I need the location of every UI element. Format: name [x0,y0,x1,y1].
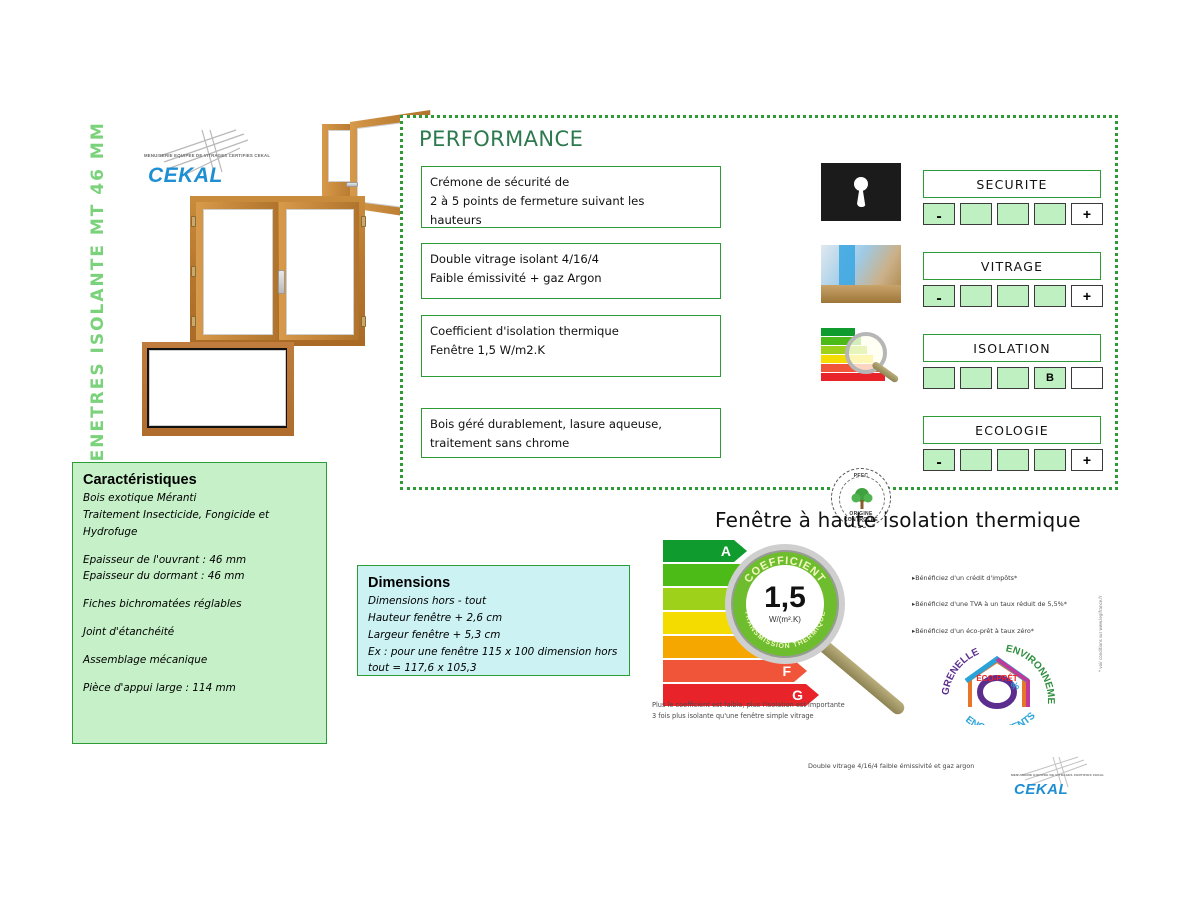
rating-label-vitrage: VITRAGE [923,252,1101,280]
thermal-title: Fenêtre à haute isolation thermique [715,508,1081,532]
rating-cell-minus[interactable]: - [923,449,955,471]
energy-label-note: Plus le coefficient est faible, plus l'i… [652,700,845,722]
benefit-item: ▸Bénéficiez d'un crédit d'impôts* [912,575,1067,581]
energy-label-graphic: A F G COEFFICIENT TRANSMISSI [663,540,903,710]
benefits-list: ▸Bénéficiez d'un crédit d'impôts* ▸Bénéf… [912,575,1067,654]
rating-label-isolation: ISOLATION [923,334,1101,362]
rating-cell[interactable] [960,285,992,307]
caracteristiques-line: Epaisseur du dormant : 46 mm [83,568,316,585]
rating-cell[interactable] [997,203,1029,225]
svg-text:GRENELLE: GRENELLE [940,646,981,695]
coefficient-unit: W/(m².K) [769,615,801,624]
caracteristiques-box: Caractéristiques Bois exotique Méranti T… [72,462,327,744]
rating-cells-ecologie: - + [923,449,1103,471]
rating-cell[interactable] [960,367,992,389]
rating-cell[interactable] [1071,367,1103,389]
benefit-item: ▸Bénéficiez d'une TVA à un taux réduit d… [912,601,1067,607]
rating-cell-plus[interactable]: + [1071,203,1103,225]
spec-box-ecology: Bois géré durablement, lasure aqueuse, t… [421,408,721,458]
datasheet-page: FENETRES ISOLANTE MT 46 MM MENUISERIE EQ… [0,0,1202,901]
keyhole-icon [821,163,901,221]
dimensions-box: Dimensions Dimensions hors - tout Hauteu… [357,565,630,676]
caracteristiques-title: Caractéristiques [83,472,316,488]
rating-cell-minus[interactable]: - [923,203,955,225]
dimensions-line: Largeur fenêtre + 5,3 cm [368,627,619,644]
coefficient-magnifier: COEFFICIENT TRANSMISSION THERMIQUE 1,5 W… [725,544,905,709]
svg-text:%: % [1011,681,1019,691]
caracteristiques-line: Traitement Insecticide, Fongicide et [83,507,316,524]
legal-side-note: * voir conditions sur www.legifrance.fr [1098,596,1103,672]
rating-cell[interactable] [997,285,1029,307]
rating-cell-plus[interactable]: + [1071,449,1103,471]
caracteristiques-line: Assemblage mécanique [83,652,316,669]
product-side-title: FENETRES ISOLANTE MT 46 MM [88,145,118,475]
footer-note: Double vitrage 4/16/4 faible émissivité … [808,762,974,770]
rating-cell-grade[interactable]: B [1034,367,1066,389]
cekal-logo-subtitle: MENUISERIE EQUIPEE DE VITRAGES CERTIFIES… [1011,773,1104,777]
cekal-logo-wordmark: CEKAL [1014,781,1068,798]
rating-cells-vitrage: - + [923,285,1103,307]
rating-row-ecologie: ECOLOGIE - + [923,416,1103,471]
spec-box-insulation: Coefficient d'isolation thermique Fenêtr… [421,315,721,377]
rating-cells-isolation: B [923,367,1103,389]
dimensions-line: Dimensions hors - tout [368,593,619,610]
caracteristiques-line: Epaisseur de l'ouvrant : 46 mm [83,552,316,569]
performance-panel: PERFORMANCE Crémone de sécurité de 2 à 5… [400,115,1118,490]
performance-title: PERFORMANCE [419,127,583,151]
caracteristiques-line: Hydrofuge [83,524,316,541]
coefficient-value: 1,5 [764,583,806,613]
rating-cell[interactable] [960,449,992,471]
caracteristiques-line: Joint d'étanchéité [83,624,316,641]
spec-box-glazing: Double vitrage isolant 4/16/4 Faible émi… [421,243,721,299]
rating-cell[interactable] [923,367,955,389]
dimensions-title: Dimensions [368,575,619,591]
rating-row-securite: SECURITE - + [923,170,1103,225]
rating-cell[interactable] [1034,285,1066,307]
rating-row-isolation: ISOLATION B [923,334,1103,389]
energy-magnifier-icon [821,326,901,384]
dimensions-line: Ex : pour une fenêtre 115 x 100 dimensio… [368,644,619,661]
rating-row-vitrage: VITRAGE - + [923,252,1103,307]
caracteristiques-line: Fiches bichromatées réglables [83,596,316,613]
cekal-logo-footer: MENUISERIE EQUIPEE DE VITRAGES CERTIFIES… [1008,755,1088,800]
spec-box-security: Crémone de sécurité de 2 à 5 points de f… [421,166,721,228]
grenelle-environnement-logo: ÉCO-PRÊT % GRENELLE ENVIRONNEMENT ENGAGE… [940,645,1055,725]
glazing-icon [821,245,901,303]
rating-cell-minus[interactable]: - [923,285,955,307]
rating-label-securite: SECURITE [923,170,1101,198]
caracteristiques-line: Bois exotique Méranti [83,490,316,507]
rating-cell[interactable] [997,449,1029,471]
rating-cell-plus[interactable]: + [1071,285,1103,307]
grenelle-house-icon: ÉCO-PRÊT % GRENELLE ENVIRONNEMENT ENGAGE… [940,645,1055,725]
rating-label-ecologie: ECOLOGIE [923,416,1101,444]
window-product-images [150,120,400,450]
dimensions-line: tout = 117,6 x 105,3 [368,660,619,677]
rating-cell[interactable] [960,203,992,225]
rating-cell[interactable] [997,367,1029,389]
benefit-item: ▸Bénéficiez d'un éco-prêt à taux zéro* [912,628,1067,634]
svg-text:ENGAGEMENTS: ENGAGEMENTS [963,710,1038,725]
rating-cell[interactable] [1034,203,1066,225]
dimensions-line: Hauteur fenêtre + 2,6 cm [368,610,619,627]
rating-cell[interactable] [1034,449,1066,471]
caracteristiques-line: Pièce d'appui large : 114 mm [83,680,316,697]
rating-cells-securite: - + [923,203,1103,225]
